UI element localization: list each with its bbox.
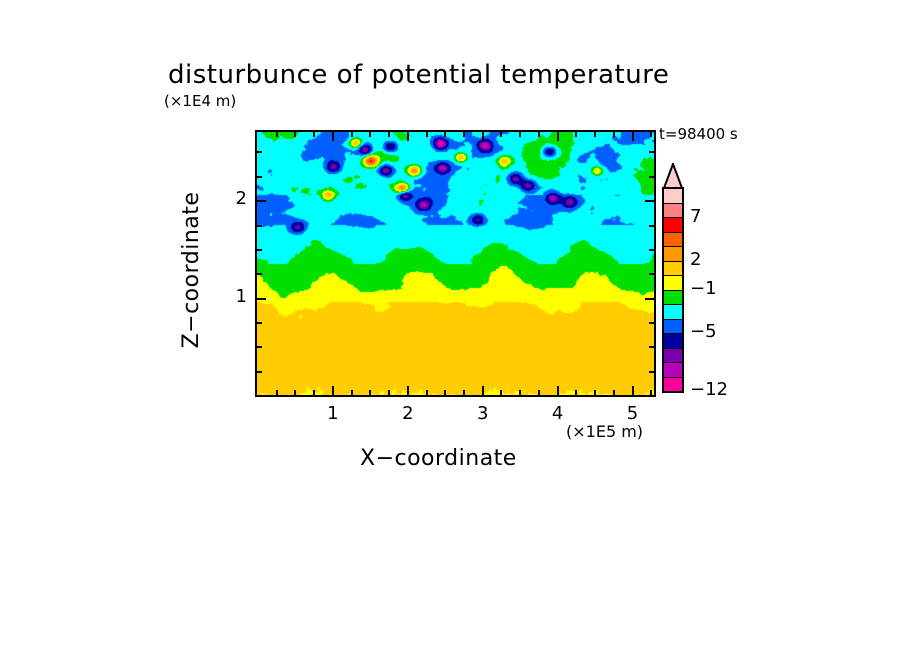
colorbar-band [664,262,682,277]
colorbar-bands [662,187,684,393]
y-minor-tick [257,249,262,251]
x-axis-title: X−coordinate [360,446,517,471]
x-tick-top [463,132,465,137]
x-tick-top [388,132,390,137]
x-tick-top [426,132,428,137]
y-minor-tick [257,346,262,348]
colorbar-arrow-icon [662,163,684,189]
colorbar-band [664,204,682,219]
y-minor-tick [257,225,262,227]
colorbar-band [664,305,682,320]
y-tick-right [649,176,654,178]
x-tick-top [500,132,502,137]
y-minor-tick [257,176,262,178]
x-minor-tick [426,390,428,395]
x-minor-tick [613,390,615,395]
x-tick-top [557,132,559,141]
plot-area [255,130,656,397]
colorbar-band [664,349,682,364]
x-tick-top [613,132,615,137]
y-major-tick [257,298,266,300]
x-minor-tick [594,390,596,395]
x-tick-top [369,132,371,137]
x-minor-tick [519,390,521,395]
y-tick-right [649,151,654,153]
x-major-tick [407,386,409,395]
x-tick-top [407,132,409,141]
x-tick-label: 1 [318,403,348,424]
title-units-label: (×1E4 m) [164,92,236,110]
x-tick-top [294,132,296,137]
x-major-tick [632,386,634,395]
y-tick-label: 1 [223,286,247,307]
y-tick-right [649,322,654,324]
x-tick-label: 4 [543,403,573,424]
colorbar-band [664,334,682,349]
x-tick-top [632,132,634,141]
x-tick-top [519,132,521,137]
colorbar-band [664,291,682,306]
x-minor-tick [388,390,390,395]
y-minor-tick [257,273,262,275]
colorbar-band [664,276,682,291]
x-axis-units-label: (×1E5 m) [566,422,643,441]
x-tick-top [276,132,278,137]
x-tick-top [351,132,353,137]
x-minor-tick [444,390,446,395]
x-minor-tick [369,390,371,395]
colorbar-band [664,247,682,262]
colorbar-band [664,233,682,248]
x-minor-tick [276,390,278,395]
x-minor-tick [500,390,502,395]
x-tick-top [444,132,446,137]
colorbar-tick-label: 7 [690,206,701,227]
colorbar-tick-label: −1 [690,278,717,299]
y-tick-label: 2 [223,188,247,209]
colorbar-band [664,320,682,335]
y-tick-right [649,273,654,275]
x-tick-top [482,132,484,141]
colorbar-band [664,363,682,378]
x-major-tick [482,386,484,395]
x-tick-top [332,132,334,141]
contour-figure: disturbunce of potential temperature (×1… [0,0,904,654]
y-axis-title: Z−coordinate [179,155,204,385]
x-tick-label: 3 [468,403,498,424]
colorbar-band [664,189,682,204]
colorbar-tick-label: −12 [690,379,728,400]
y-tick-right [649,225,654,227]
y-tick-right [649,249,654,251]
x-tick-top [313,132,315,137]
y-minor-tick [257,322,262,324]
colorbar-band [664,378,682,392]
colorbar-tick-label: −5 [690,321,717,342]
x-major-tick [332,386,334,395]
y-tick-right [649,371,654,373]
colorbar [662,163,686,395]
colorbar-tick-label: 2 [690,249,701,270]
page-title: disturbunce of potential temperature [168,60,669,90]
y-tick-right [649,346,654,348]
timestamp-label: t=98400 s [659,125,738,143]
y-tick-right [645,200,654,202]
y-major-tick [257,200,266,202]
y-tick-right [645,298,654,300]
x-minor-tick [294,390,296,395]
x-minor-tick [650,390,652,395]
x-tick-top [538,132,540,137]
x-major-tick [557,386,559,395]
y-minor-tick [257,151,262,153]
x-tick-top [594,132,596,137]
colorbar-band [664,218,682,233]
x-tick-top [575,132,577,137]
x-tick-top [650,132,652,137]
contour-field-canvas [257,132,654,395]
x-minor-tick [538,390,540,395]
x-minor-tick [575,390,577,395]
x-tick-label: 5 [618,403,648,424]
x-minor-tick [351,390,353,395]
x-tick-label: 2 [393,403,423,424]
x-minor-tick [463,390,465,395]
x-minor-tick [313,390,315,395]
y-minor-tick [257,371,262,373]
